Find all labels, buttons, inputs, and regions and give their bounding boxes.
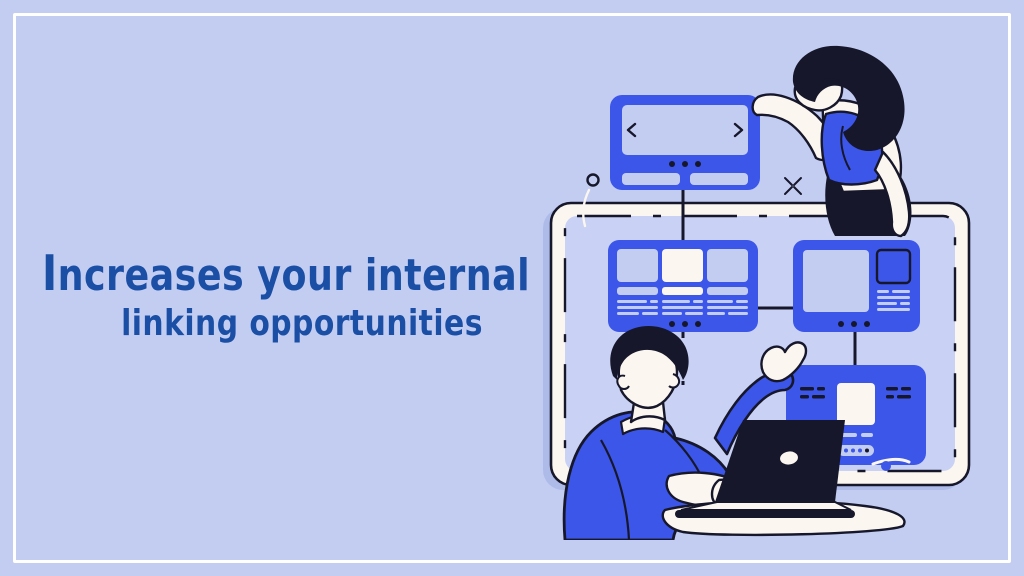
laptop-edge: [675, 510, 855, 518]
page-title: Increases your internal linking opportun…: [42, 248, 562, 343]
grid-card-dots: [669, 321, 701, 327]
media-card-dots: [838, 321, 870, 327]
blue-dot: [881, 461, 891, 471]
headline-line-1: Increases your internal: [42, 248, 520, 299]
center-thumbnail: [837, 383, 875, 425]
dot-pill: [838, 445, 874, 456]
three-column-grid-card: [608, 240, 758, 332]
sparkle-icon: [785, 178, 801, 194]
ring-circle-icon: [588, 175, 599, 186]
carousel-dots: [669, 161, 701, 167]
headline-line-2: linking opportunities: [63, 305, 541, 342]
outlined-square-icon: [877, 250, 910, 283]
poster-canvas: Increases your internal linking opportun…: [0, 0, 1024, 576]
carousel-card: [610, 95, 760, 190]
illustration: [505, 40, 1005, 540]
media-with-sidebar-card: [793, 240, 920, 332]
